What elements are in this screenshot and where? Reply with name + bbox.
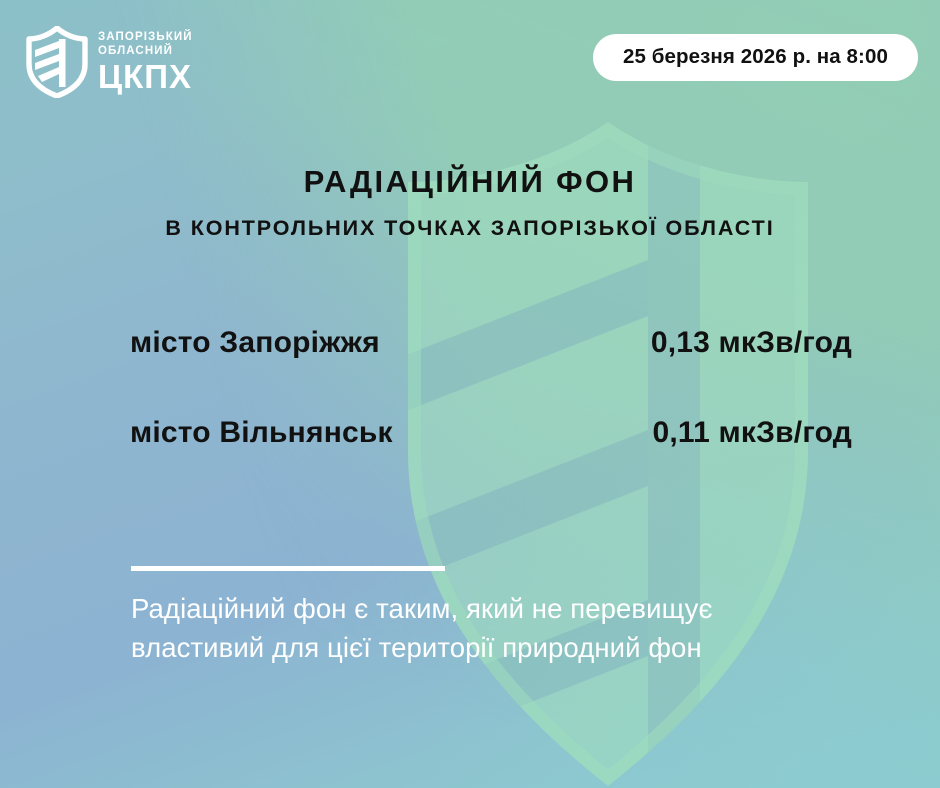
brand-logo-text: ЗАПОРІЗЬКИЙ ОБЛАСНИЙ ЦКПХ bbox=[98, 30, 193, 94]
page-subtitle: В КОНТРОЛЬНИХ ТОЧКАХ ЗАПОРІЗЬКОЇ ОБЛАСТІ bbox=[0, 216, 940, 242]
footer-note-line-1: Радіаційний фон є таким, який не перевищ… bbox=[131, 589, 870, 628]
shield-logo-icon bbox=[26, 26, 88, 98]
measurement-value: 0,13 мкЗв/год bbox=[651, 326, 852, 360]
measurement-value: 0,11 мкЗв/год bbox=[652, 416, 852, 450]
logo-acronym: ЦКПХ bbox=[98, 60, 193, 94]
measurement-city-label: місто Вільнянськ bbox=[130, 416, 393, 450]
measurement-list: місто Запоріжжя 0,13 мкЗв/год місто Віль… bbox=[130, 326, 852, 472]
logo-line-1: ЗАПОРІЗЬКИЙ bbox=[98, 30, 193, 44]
measurement-row: місто Вільнянськ 0,11 мкЗв/год bbox=[130, 416, 852, 472]
date-badge: 25 березня 2026 р. на 8:00 bbox=[593, 34, 918, 81]
poster-canvas: ЗАПОРІЗЬКИЙ ОБЛАСНИЙ ЦКПХ 25 березня 202… bbox=[0, 0, 940, 788]
measurement-row: місто Запоріжжя 0,13 мкЗв/год bbox=[130, 326, 852, 382]
measurement-city-label: місто Запоріжжя bbox=[130, 326, 380, 360]
footer-note: Радіаційний фон є таким, який не перевищ… bbox=[131, 589, 870, 667]
footer-note-line-2: властивий для цієї території природний ф… bbox=[131, 628, 870, 667]
brand-logo: ЗАПОРІЗЬКИЙ ОБЛАСНИЙ ЦКПХ bbox=[26, 26, 193, 98]
page-title: РАДІАЦІЙНИЙ ФОН bbox=[0, 164, 940, 200]
footer-divider bbox=[131, 566, 445, 571]
logo-line-2: ОБЛАСНИЙ bbox=[98, 44, 193, 58]
title-block: РАДІАЦІЙНИЙ ФОН В КОНТРОЛЬНИХ ТОЧКАХ ЗАП… bbox=[0, 164, 940, 241]
